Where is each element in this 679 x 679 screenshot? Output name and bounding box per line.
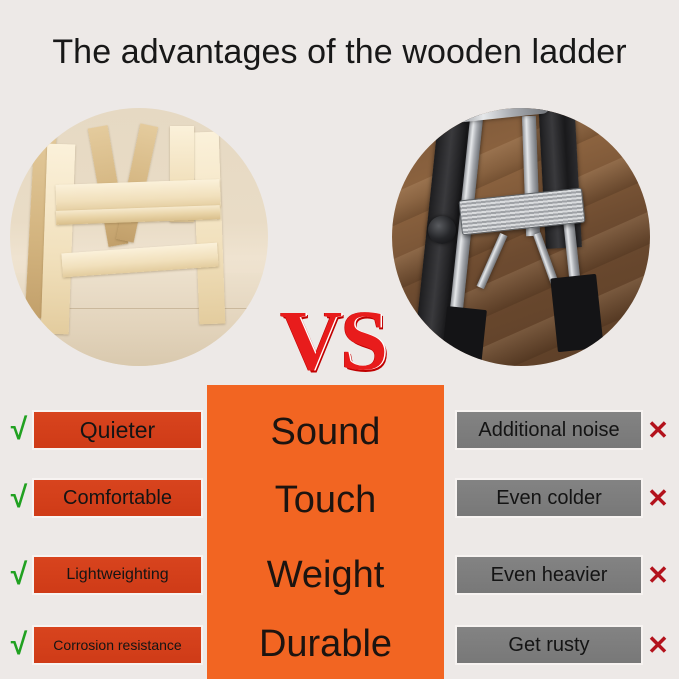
attribute-label-sound: Sound	[207, 411, 444, 453]
attribute-label-durable: Durable	[207, 623, 444, 665]
check-icon: √	[6, 483, 32, 513]
page-title: The advantages of the wooden ladder	[0, 30, 679, 74]
table-row: √ Quieter	[6, 410, 203, 450]
table-row: Get rusty ✕	[455, 625, 673, 665]
cross-icon: ✕	[643, 562, 673, 588]
wooden-ladder-photo	[10, 108, 268, 366]
table-row: Even heavier ✕	[455, 555, 673, 595]
hero-images: VS	[0, 108, 679, 376]
con-label-durable[interactable]: Get rusty	[455, 625, 643, 665]
comparison-infographic: The advantages of the wooden ladder	[0, 0, 679, 679]
pro-label-sound[interactable]: Quieter	[32, 410, 203, 450]
comparison-table: √ Quieter Sound Additional noise ✕ √ Com…	[0, 385, 679, 679]
pro-label-durable[interactable]: Corrosion resistance	[32, 625, 203, 665]
attribute-label-weight: Weight	[207, 554, 444, 596]
check-icon: √	[6, 630, 32, 660]
cross-icon: ✕	[643, 417, 673, 443]
vs-badge: VS	[268, 291, 398, 389]
table-row: √ Lightweighting	[6, 555, 203, 595]
metal-ladder-photo	[392, 108, 650, 366]
cross-icon: ✕	[643, 485, 673, 511]
attribute-label-touch: Touch	[207, 479, 444, 521]
con-label-sound[interactable]: Additional noise	[455, 410, 643, 450]
table-row: Additional noise ✕	[455, 410, 673, 450]
pro-label-weight[interactable]: Lightweighting	[32, 555, 203, 595]
table-row: Even colder ✕	[455, 478, 673, 518]
con-label-touch[interactable]: Even colder	[455, 478, 643, 518]
table-row: √ Corrosion resistance	[6, 625, 203, 665]
cross-icon: ✕	[643, 632, 673, 658]
pro-label-touch[interactable]: Comfortable	[32, 478, 203, 518]
con-label-weight[interactable]: Even heavier	[455, 555, 643, 595]
check-icon: √	[6, 560, 32, 590]
check-icon: √	[6, 415, 32, 445]
table-row: √ Comfortable	[6, 478, 203, 518]
